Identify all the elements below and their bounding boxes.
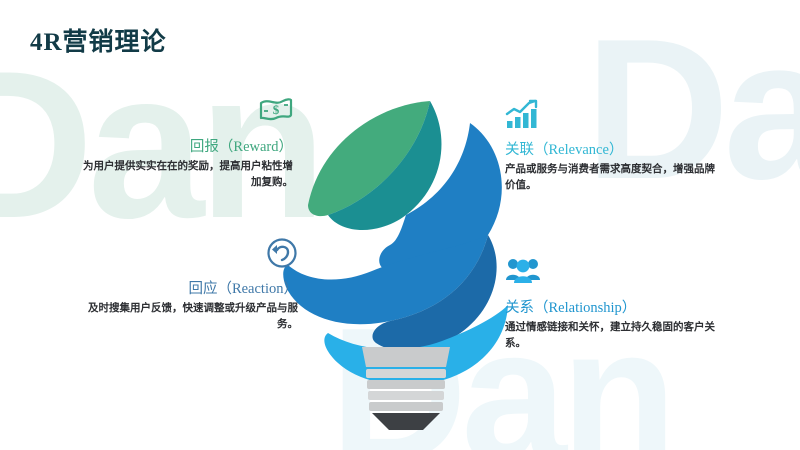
people-group-icon xyxy=(505,256,720,292)
slide-canvas: Dan Dan Dan 4R营销理论 xyxy=(0,0,800,450)
bulb-base-collar xyxy=(362,347,450,367)
bulb-base-ridge-2 xyxy=(367,380,445,389)
svg-text:$: $ xyxy=(273,102,280,117)
bulb-base-tip xyxy=(372,413,440,430)
section-relevance-description: 产品或服务与消费者需求高度契合，增强品牌价值。 xyxy=(505,162,720,195)
page-title: 4R营销理论 xyxy=(30,22,167,58)
bulb-base-ridge-3 xyxy=(368,391,444,400)
section-relationship-description: 通过情感链接和关怀，建立持久稳固的客户关系。 xyxy=(505,320,720,353)
spiral-lightbulb-diagram xyxy=(280,75,530,430)
section-reaction-heading: 回应（Reaction） xyxy=(83,277,298,298)
section-relationship: 关系（Relationship） 通过情感链接和关怀，建立持久稳固的客户关系。 xyxy=(505,256,720,353)
bar-chart-growth-icon xyxy=(505,98,720,134)
section-reward-description: 为用户提供实实在在的奖励，提高用户粘性增加复购。 xyxy=(78,159,293,192)
section-reaction-description: 及时搜集用户反馈，快速调整或升级产品与服务。 xyxy=(83,301,298,334)
section-reaction: 回应（Reaction） 及时搜集用户反馈，快速调整或升级产品与服务。 xyxy=(83,237,298,334)
section-relationship-heading: 关系（Relationship） xyxy=(505,296,720,317)
section-relevance-heading: 关联（Relevance） xyxy=(505,138,720,159)
bulb-base-ridge-1 xyxy=(366,369,446,378)
section-reward: $ 回报（Reward） 为用户提供实实在在的奖励，提高用户粘性增加复购。 xyxy=(78,95,293,192)
section-reward-heading: 回报（Reward） xyxy=(78,135,293,156)
undo-arrow-circle-icon xyxy=(83,237,298,273)
section-relevance: 关联（Relevance） 产品或服务与消费者需求高度契合，增强品牌价值。 xyxy=(505,98,720,195)
bulb-base-ridge-4 xyxy=(369,402,443,411)
banknote-dollar-icon: $ xyxy=(78,95,293,131)
